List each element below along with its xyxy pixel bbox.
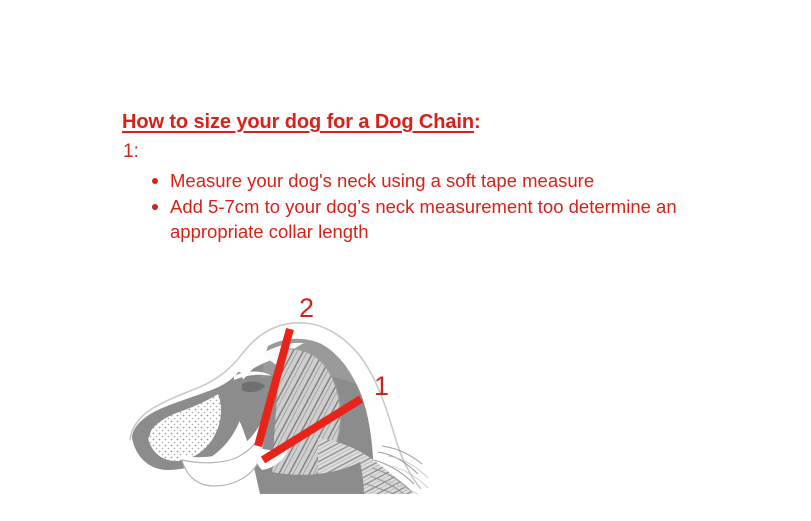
instruction-list: Measure your dog's neck using a soft tap…: [148, 168, 688, 245]
dog-head-diagram-svg: [122, 288, 446, 494]
document-page: How to size your dog for a Dog Chain: 1:…: [0, 0, 811, 521]
list-item: Add 5-7cm to your dog’s neck measurement…: [148, 194, 688, 244]
measurement-label-2: 2: [299, 295, 314, 322]
measurement-label-1: 1: [374, 373, 389, 400]
page-title: How to size your dog for a Dog Chain:: [122, 111, 481, 134]
step-number-label: 1:: [123, 141, 139, 163]
bullet-icon: [152, 204, 158, 210]
page-title-text: How to size your dog for a Dog Chain: [122, 111, 474, 133]
list-item-label: Measure your dog's neck using a soft tap…: [170, 168, 688, 193]
list-item: Measure your dog's neck using a soft tap…: [148, 168, 688, 193]
page-title-colon: :: [474, 111, 481, 133]
list-item-label: Add 5-7cm to your dog’s neck measurement…: [170, 194, 688, 244]
bullet-icon: [152, 178, 158, 184]
dog-measurement-illustration: [122, 288, 446, 494]
